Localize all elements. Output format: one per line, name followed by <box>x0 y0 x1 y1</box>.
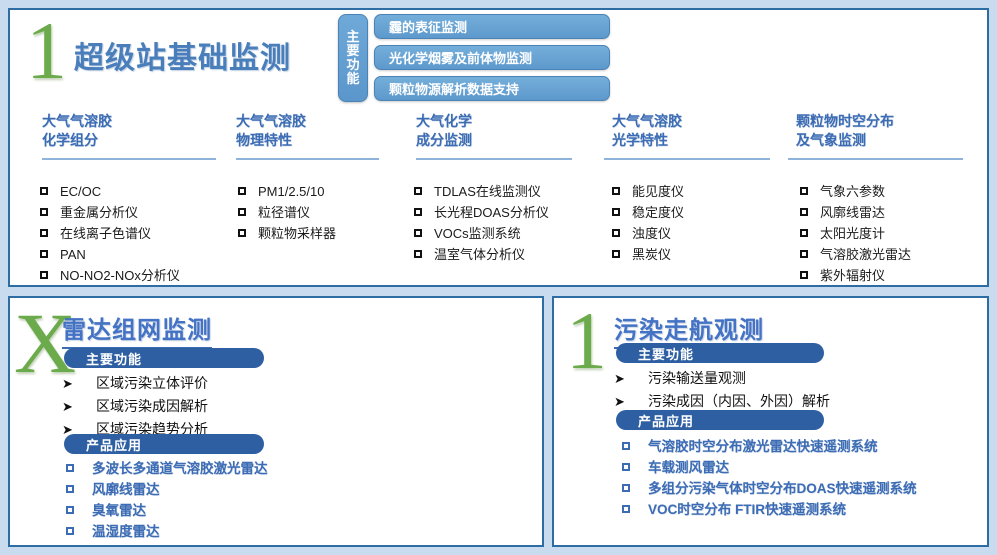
list-item-label: 风廓线雷达 <box>820 203 885 222</box>
list-item-label: 浊度仪 <box>632 224 671 243</box>
list-item-label: 区域污染成因解析 <box>96 395 208 417</box>
list-item[interactable]: ➤污染输送量观测 <box>614 367 830 390</box>
square-bullet-icon <box>622 463 630 471</box>
square-bullet-icon <box>414 229 422 237</box>
square-bullet-icon <box>66 527 74 535</box>
section-numeral-mobile: 1 <box>566 300 607 382</box>
list-item[interactable]: 粒径谱仪 <box>238 203 336 222</box>
list-item[interactable]: 多组分污染气体时空分布DOAS快速遥测系统 <box>622 478 917 499</box>
list-item-label: 气溶胶激光雷达 <box>820 245 911 264</box>
arrow-bullet-icon: ➤ <box>614 368 648 390</box>
list-item-label: 太阳光度计 <box>820 224 885 243</box>
square-bullet-icon <box>238 208 246 216</box>
list-item[interactable]: 多波长多通道气溶胶激光雷达 <box>66 458 268 479</box>
list-item[interactable]: VOCs监测系统 <box>414 224 549 243</box>
list-item-label: EC/OC <box>60 182 101 201</box>
list-item[interactable]: 紫外辐射仪 <box>800 266 911 285</box>
list-item[interactable]: 气溶胶激光雷达 <box>800 245 911 264</box>
list-item[interactable]: 浊度仪 <box>612 224 684 243</box>
item-list-chemical: EC/OC 重金属分析仪 在线离子色谱仪 PAN NO-NO2-NOx分析仪 <box>40 182 180 287</box>
list-item-label: 温室气体分析仪 <box>434 245 525 264</box>
column-rule <box>236 158 379 160</box>
list-item[interactable]: 车载测风雷达 <box>622 457 917 478</box>
product-list-radar: 多波长多通道气溶胶激光雷达 风廓线雷达 臭氧雷达 温湿度雷达 <box>66 458 268 542</box>
square-bullet-icon <box>66 464 74 472</box>
square-bullet-icon <box>414 208 422 216</box>
item-list-spatiotemporal: 气象六参数 风廓线雷达 太阳光度计 气溶胶激光雷达 紫外辐射仪 <box>800 182 911 287</box>
list-item-label: 长光程DOAS分析仪 <box>434 203 549 222</box>
square-bullet-icon <box>800 208 808 216</box>
square-bullet-icon <box>66 485 74 493</box>
list-item-label: 在线离子色谱仪 <box>60 224 151 243</box>
column-rule <box>42 158 216 160</box>
list-item-label: 重金属分析仪 <box>60 203 138 222</box>
section-title-radar-network: 雷达组网监测 <box>62 310 212 349</box>
list-item[interactable]: 温室气体分析仪 <box>414 245 549 264</box>
list-item-label: NO-NO2-NOx分析仪 <box>60 266 180 285</box>
list-item-label: PAN <box>60 245 86 264</box>
list-item-label: VOC时空分布 FTIR快速遥测系统 <box>648 499 846 520</box>
list-item[interactable]: 颗粒物采样器 <box>238 224 336 243</box>
column-header-chemical: 大气气溶胶 化学组分 <box>42 112 112 150</box>
square-bullet-icon <box>238 229 246 237</box>
list-item[interactable]: 气象六参数 <box>800 182 911 201</box>
list-item[interactable]: ➤区域污染立体评价 <box>62 372 208 395</box>
main-function-list-top: 霾的表征监测 光化学烟雾及前体物监测 颗粒物源解析数据支持 <box>374 14 610 107</box>
list-item-label: 粒径谱仪 <box>258 203 310 222</box>
list-item-label: VOCs监测系统 <box>434 224 521 243</box>
list-item[interactable]: NO-NO2-NOx分析仪 <box>40 266 180 285</box>
list-item-label: TDLAS在线监测仪 <box>434 182 541 201</box>
list-item[interactable]: 温湿度雷达 <box>66 521 268 542</box>
square-bullet-icon <box>66 506 74 514</box>
main-function-item[interactable]: 颗粒物源解析数据支持 <box>374 76 610 101</box>
main-function-list-radar: ➤区域污染立体评价 ➤区域污染成因解析 ➤区域污染趋势分析 <box>62 372 208 441</box>
square-bullet-icon <box>414 187 422 195</box>
main-function-item[interactable]: 光化学烟雾及前体物监测 <box>374 45 610 70</box>
list-item[interactable]: 太阳光度计 <box>800 224 911 243</box>
mf-tab-char-1: 要 <box>346 44 359 58</box>
list-item[interactable]: 稳定度仪 <box>612 203 684 222</box>
list-item-label: 车载测风雷达 <box>648 457 729 478</box>
list-item-label: 稳定度仪 <box>632 203 684 222</box>
list-item-label: 多波长多通道气溶胶激光雷达 <box>92 458 268 479</box>
list-item[interactable]: 在线离子色谱仪 <box>40 224 180 243</box>
list-item[interactable]: 气溶胶时空分布激光雷达快速遥测系统 <box>622 436 917 457</box>
list-item-label: 污染成因（内因、外因）解析 <box>648 390 830 412</box>
square-bullet-icon <box>612 208 620 216</box>
badge-main-function-mobile: 主要功能 <box>616 343 824 363</box>
list-item[interactable]: 长光程DOAS分析仪 <box>414 203 549 222</box>
list-item[interactable]: PAN <box>40 245 180 264</box>
list-item-label: 黑炭仪 <box>632 245 671 264</box>
square-bullet-icon <box>40 229 48 237</box>
square-bullet-icon <box>800 229 808 237</box>
section-numeral-top: 1 <box>26 10 67 92</box>
column-rule <box>788 158 963 160</box>
main-function-tab-vertical: 主 要 功 能 <box>338 14 368 102</box>
square-bullet-icon <box>238 187 246 195</box>
product-list-mobile: 气溶胶时空分布激光雷达快速遥测系统 车载测风雷达 多组分污染气体时空分布DOAS… <box>622 436 917 520</box>
list-item[interactable]: TDLAS在线监测仪 <box>414 182 549 201</box>
list-item-label: 能见度仪 <box>632 182 684 201</box>
item-list-optical: 能见度仪 稳定度仪 浊度仪 黑炭仪 <box>612 182 684 266</box>
list-item-label: 气象六参数 <box>820 182 885 201</box>
list-item[interactable]: PM1/2.5/10 <box>238 182 336 201</box>
column-rule <box>604 158 770 160</box>
square-bullet-icon <box>622 442 630 450</box>
list-item[interactable]: 黑炭仪 <box>612 245 684 264</box>
slide-root: 1 超级站基础监测 主 要 功 能 霾的表征监测 光化学烟雾及前体物监测 颗粒物… <box>0 0 997 555</box>
list-item-label: 颗粒物采样器 <box>258 224 336 243</box>
list-item-label: 紫外辐射仪 <box>820 266 885 285</box>
square-bullet-icon <box>40 187 48 195</box>
list-item[interactable]: 能见度仪 <box>612 182 684 201</box>
list-item[interactable]: EC/OC <box>40 182 180 201</box>
square-bullet-icon <box>622 484 630 492</box>
list-item-label: 风廓线雷达 <box>92 479 160 500</box>
item-list-atmos-chem: TDLAS在线监测仪 长光程DOAS分析仪 VOCs监测系统 温室气体分析仪 <box>414 182 549 266</box>
square-bullet-icon <box>800 187 808 195</box>
square-bullet-icon <box>414 250 422 258</box>
mf-tab-char-2: 功 <box>346 58 359 72</box>
square-bullet-icon <box>800 250 808 258</box>
main-function-list-mobile: ➤污染输送量观测 ➤污染成因（内因、外因）解析 <box>614 367 830 413</box>
badge-product-radar: 产品应用 <box>64 434 264 454</box>
list-item-label: 气溶胶时空分布激光雷达快速遥测系统 <box>648 436 878 457</box>
square-bullet-icon <box>40 208 48 216</box>
column-header-physical: 大气气溶胶 物理特性 <box>236 112 306 150</box>
square-bullet-icon <box>40 250 48 258</box>
square-bullet-icon <box>622 505 630 513</box>
column-rule <box>416 158 572 160</box>
column-header-spatiotemporal: 颗粒物时空分布 及气象监测 <box>796 112 894 150</box>
list-item-label: 污染输送量观测 <box>648 367 746 389</box>
list-item[interactable]: 风廓线雷达 <box>800 203 911 222</box>
list-item[interactable]: 臭氧雷达 <box>66 500 268 521</box>
list-item[interactable]: ➤区域污染成因解析 <box>62 395 208 418</box>
item-list-physical: PM1/2.5/10 粒径谱仪 颗粒物采样器 <box>238 182 336 245</box>
page-title-super-station: 超级站基础监测 <box>74 33 291 77</box>
main-function-item[interactable]: 霾的表征监测 <box>374 14 610 39</box>
list-item-label: 多组分污染气体时空分布DOAS快速遥测系统 <box>648 478 917 499</box>
square-bullet-icon <box>612 250 620 258</box>
square-bullet-icon <box>612 187 620 195</box>
list-item[interactable]: VOC时空分布 FTIR快速遥测系统 <box>622 499 917 520</box>
mf-tab-char-3: 能 <box>346 72 359 86</box>
list-item-label: 温湿度雷达 <box>92 521 160 542</box>
list-item-label: 区域污染立体评价 <box>96 372 208 394</box>
square-bullet-icon <box>800 271 808 279</box>
list-item-label: PM1/2.5/10 <box>258 182 325 201</box>
badge-main-function-radar: 主要功能 <box>64 348 264 368</box>
list-item-label: 臭氧雷达 <box>92 500 146 521</box>
column-header-atmos-chem: 大气化学 成分监测 <box>416 112 472 150</box>
list-item[interactable]: 重金属分析仪 <box>40 203 180 222</box>
square-bullet-icon <box>612 229 620 237</box>
arrow-bullet-icon: ➤ <box>62 373 96 395</box>
badge-product-mobile: 产品应用 <box>616 410 824 430</box>
square-bullet-icon <box>40 271 48 279</box>
column-header-optical: 大气气溶胶 光学特性 <box>612 112 682 150</box>
arrow-bullet-icon: ➤ <box>62 396 96 418</box>
mf-tab-char-0: 主 <box>346 30 359 44</box>
list-item[interactable]: 风廓线雷达 <box>66 479 268 500</box>
